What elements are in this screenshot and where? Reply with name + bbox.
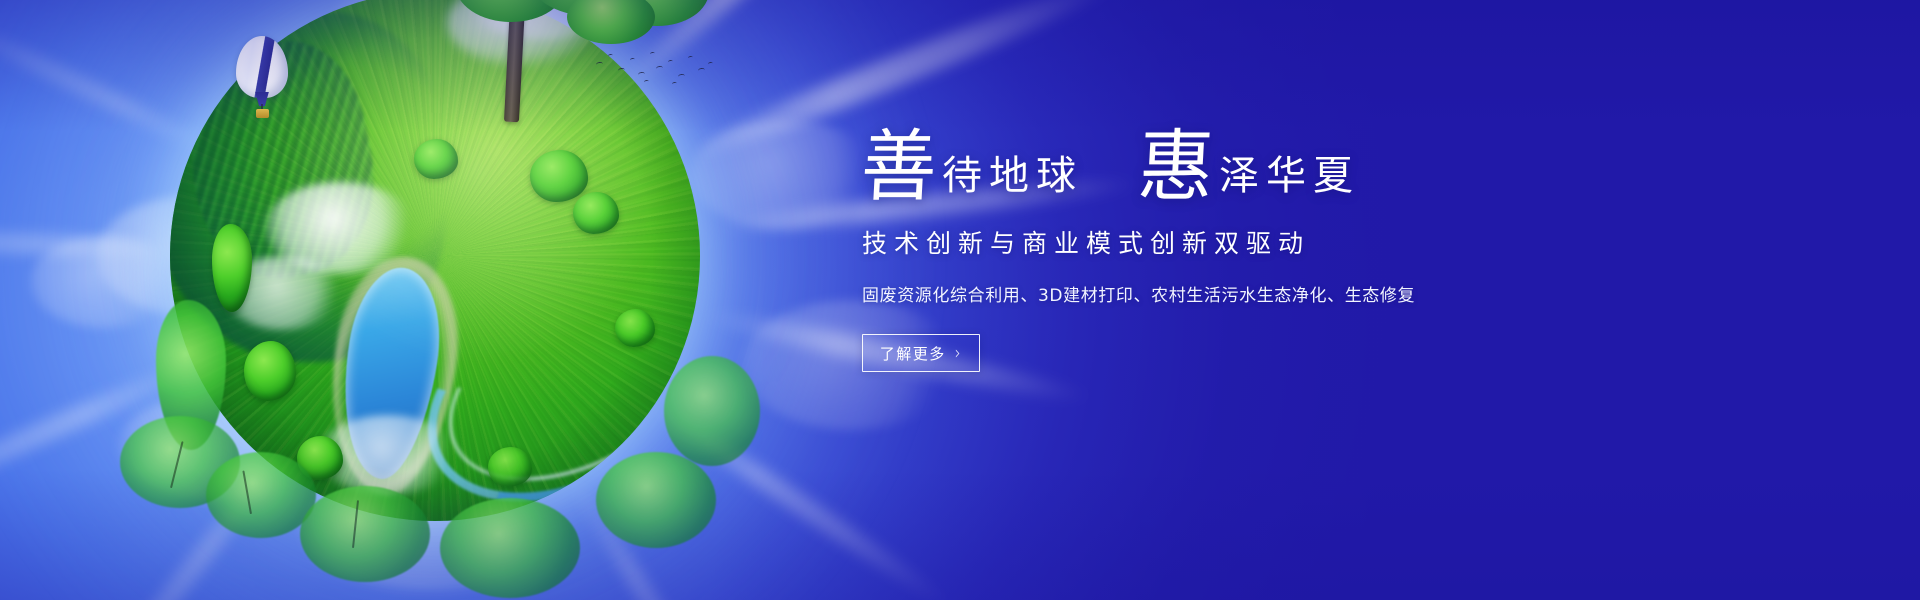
headline-lead-char-1: 善 bbox=[859, 128, 945, 206]
page-description: 固废资源化综合利用、3D建材打印、农村生活污水生态净化、生态修复 bbox=[862, 281, 1622, 306]
headline-rest-1: 待地球 bbox=[942, 156, 1083, 200]
page-subtitle: 技术创新与商业模式创新双驱动 bbox=[862, 224, 1622, 260]
learn-more-button[interactable]: 了解更多 › bbox=[862, 334, 980, 372]
page-title: 善 待地球 惠 泽华夏 bbox=[862, 126, 1622, 200]
hero-content: 善 待地球 惠 泽华夏 技术创新与商业模式创新双驱动 固废资源化综合利用、3D建… bbox=[862, 126, 1622, 372]
hero-banner: 善 待地球 惠 泽华夏 技术创新与商业模式创新双驱动 固废资源化综合利用、3D建… bbox=[0, 0, 1920, 600]
headline-lead-char-2: 惠 bbox=[1136, 128, 1222, 206]
learn-more-label: 了解更多 bbox=[880, 343, 946, 364]
headline-rest-2: 泽华夏 bbox=[1219, 156, 1360, 200]
chevron-right-icon: › bbox=[955, 344, 963, 363]
